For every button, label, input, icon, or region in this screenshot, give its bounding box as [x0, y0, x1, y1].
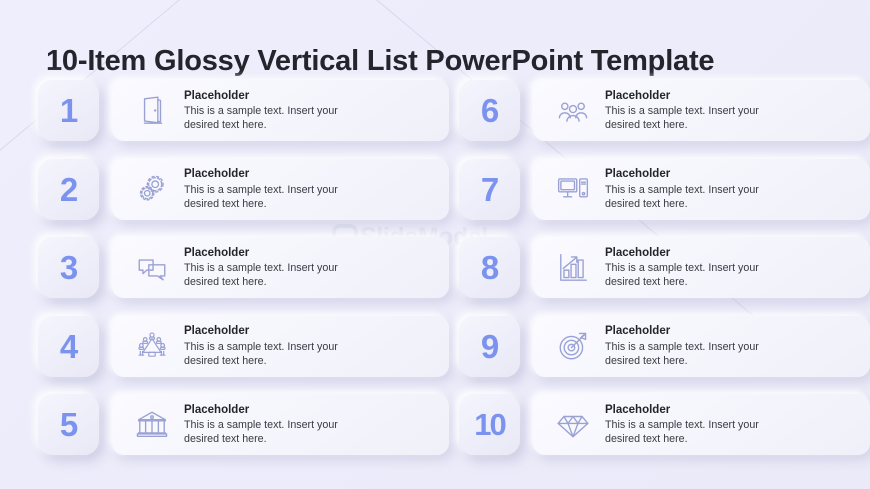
item-number-label: 6	[481, 94, 498, 127]
item-body-text: This is a sample text. Insert your desir…	[605, 261, 773, 289]
speech-bubbles-icon	[126, 246, 178, 290]
list-column-left: 1 PlaceholderThis is a sample text. Inse…	[0, 80, 449, 455]
item-card[interactable]: PlaceholderThis is a sample text. Insert…	[112, 237, 449, 298]
item-number-label: 5	[60, 408, 77, 441]
item-number-label: 4	[60, 330, 77, 363]
item-card[interactable]: PlaceholderThis is a sample text. Insert…	[112, 80, 449, 141]
item-heading: Placeholder	[605, 324, 860, 338]
group-people-icon	[547, 89, 599, 133]
item-text-block: PlaceholderThis is a sample text. Insert…	[178, 324, 439, 368]
item-text-block: PlaceholderThis is a sample text. Insert…	[599, 167, 860, 211]
desktop-computer-icon	[547, 167, 599, 211]
item-card[interactable]: PlaceholderThis is a sample text. Insert…	[533, 80, 870, 141]
list-item[interactable]: 8 PlaceholderThis is a sample text. Inse…	[459, 237, 870, 298]
item-body-text: This is a sample text. Insert your desir…	[184, 261, 352, 289]
list-column-right: 6 PlaceholderThis is a sample text. Inse…	[449, 80, 870, 455]
target-arrow-icon	[547, 324, 599, 368]
item-heading: Placeholder	[184, 403, 439, 417]
item-heading: Placeholder	[605, 403, 860, 417]
item-number-label: 1	[60, 94, 77, 127]
list-item[interactable]: 7 PlaceholderThis is a sample text. Inse…	[459, 159, 870, 220]
diamond-gem-icon	[547, 403, 599, 447]
item-body-text: This is a sample text. Insert your desir…	[605, 183, 773, 211]
item-card[interactable]: PlaceholderThis is a sample text. Insert…	[533, 159, 870, 220]
list-columns: 1 PlaceholderThis is a sample text. Inse…	[0, 80, 870, 455]
item-number-label: 2	[60, 173, 77, 206]
item-number-badge[interactable]: 1	[38, 80, 99, 141]
list-item[interactable]: 5 PlaceholderThis is a sample text. Inse…	[38, 394, 449, 455]
item-body-text: This is a sample text. Insert your desir…	[184, 104, 352, 132]
item-number-badge[interactable]: 8	[459, 237, 520, 298]
item-body-text: This is a sample text. Insert your desir…	[184, 418, 352, 446]
item-heading: Placeholder	[605, 167, 860, 181]
item-card[interactable]: PlaceholderThis is a sample text. Insert…	[533, 394, 870, 455]
item-text-block: PlaceholderThis is a sample text. Insert…	[599, 324, 860, 368]
item-number-label: 10	[474, 409, 504, 440]
item-card[interactable]: PlaceholderThis is a sample text. Insert…	[112, 159, 449, 220]
list-item[interactable]: 3 PlaceholderThis is a sample text. Inse…	[38, 237, 449, 298]
item-heading: Placeholder	[184, 89, 439, 103]
item-number-label: 9	[481, 330, 498, 363]
list-item[interactable]: 9 PlaceholderThis is a sample text. Inse…	[459, 316, 870, 377]
item-body-text: This is a sample text. Insert your desir…	[605, 418, 773, 446]
item-text-block: PlaceholderThis is a sample text. Insert…	[178, 167, 439, 211]
item-number-badge[interactable]: 6	[459, 80, 520, 141]
item-body-text: This is a sample text. Insert your desir…	[605, 340, 773, 368]
meeting-table-icon	[126, 324, 178, 368]
item-text-block: PlaceholderThis is a sample text. Insert…	[178, 246, 439, 290]
item-card[interactable]: PlaceholderThis is a sample text. Insert…	[533, 316, 870, 377]
item-heading: Placeholder	[605, 246, 860, 260]
item-text-block: PlaceholderThis is a sample text. Insert…	[178, 89, 439, 133]
list-item[interactable]: 4 PlaceholderThis is a sample text. Inse…	[38, 316, 449, 377]
list-item[interactable]: 1 PlaceholderThis is a sample text. Inse…	[38, 80, 449, 141]
item-heading: Placeholder	[605, 89, 860, 103]
page-title: 10-Item Glossy Vertical List PowerPoint …	[46, 45, 714, 78]
item-number-badge[interactable]: 9	[459, 316, 520, 377]
item-number-label: 7	[481, 173, 498, 206]
door-icon	[126, 89, 178, 133]
item-number-label: 8	[481, 251, 498, 284]
item-number-badge[interactable]: 10	[459, 394, 520, 455]
item-number-badge[interactable]: 7	[459, 159, 520, 220]
item-card[interactable]: PlaceholderThis is a sample text. Insert…	[112, 316, 449, 377]
gears-icon	[126, 167, 178, 211]
item-card[interactable]: PlaceholderThis is a sample text. Insert…	[112, 394, 449, 455]
list-item[interactable]: 2 PlaceholderThis is a sample text. Inse…	[38, 159, 449, 220]
item-heading: Placeholder	[184, 246, 439, 260]
item-body-text: This is a sample text. Insert your desir…	[184, 183, 352, 211]
list-item[interactable]: 10 PlaceholderThis is a sample text. Ins…	[459, 394, 870, 455]
item-body-text: This is a sample text. Insert your desir…	[605, 104, 773, 132]
item-card[interactable]: PlaceholderThis is a sample text. Insert…	[533, 237, 870, 298]
item-heading: Placeholder	[184, 324, 439, 338]
slide-canvas: SlideModel .com 10-Item Glossy Vertical …	[0, 0, 870, 489]
item-number-badge[interactable]: 2	[38, 159, 99, 220]
item-text-block: PlaceholderThis is a sample text. Insert…	[599, 246, 860, 290]
item-number-badge[interactable]: 4	[38, 316, 99, 377]
item-number-label: 3	[60, 251, 77, 284]
item-body-text: This is a sample text. Insert your desir…	[184, 340, 352, 368]
growth-bar-chart-icon	[547, 246, 599, 290]
item-heading: Placeholder	[184, 167, 439, 181]
item-number-badge[interactable]: 5	[38, 394, 99, 455]
item-text-block: PlaceholderThis is a sample text. Insert…	[599, 403, 860, 447]
item-text-block: PlaceholderThis is a sample text. Insert…	[178, 403, 439, 447]
list-item[interactable]: 6 PlaceholderThis is a sample text. Inse…	[459, 80, 870, 141]
item-number-badge[interactable]: 3	[38, 237, 99, 298]
item-text-block: PlaceholderThis is a sample text. Insert…	[599, 89, 860, 133]
bank-building-icon	[126, 403, 178, 447]
